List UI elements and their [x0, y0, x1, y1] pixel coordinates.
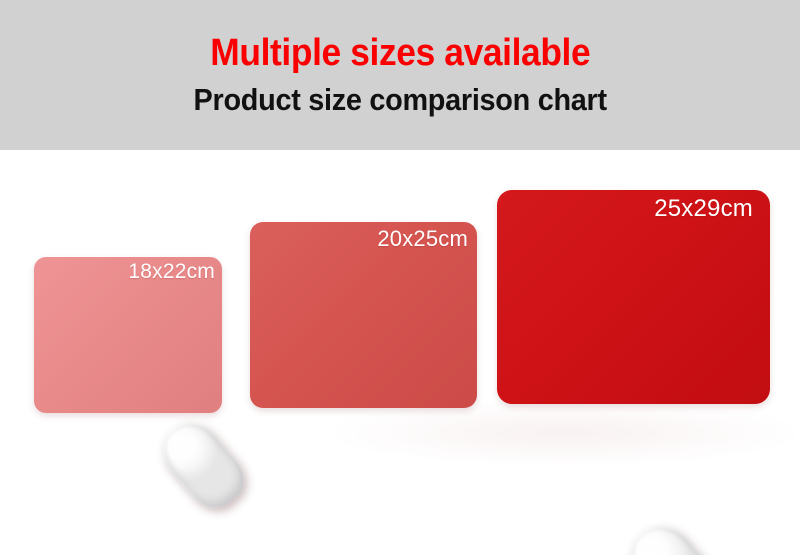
- size-label-large: 25x29cm: [654, 194, 753, 223]
- header-banner: Multiple sizes available Product size co…: [0, 0, 800, 150]
- surface-reflection-right: [330, 400, 800, 466]
- subheadline-comparison-chart: Product size comparison chart: [193, 81, 606, 119]
- headline-multiple-sizes: Multiple sizes available: [210, 31, 590, 75]
- mousepad-medium[interactable]: 20x25cm: [250, 222, 477, 408]
- size-label-small: 18x22cm: [128, 259, 215, 285]
- header-text-group: Multiple sizes available Product size co…: [0, 0, 800, 150]
- mousepad-comparison-stage: 18x22cm 20x25cm 25x29cm: [0, 150, 800, 555]
- size-label-medium: 20x25cm: [377, 225, 468, 252]
- product-size-comparison-page: Multiple sizes available Product size co…: [0, 0, 800, 555]
- mousepad-small[interactable]: 18x22cm: [34, 257, 222, 413]
- mousepad-large[interactable]: 25x29cm: [497, 190, 770, 404]
- mouse-icon-medium: [617, 513, 730, 555]
- mouse-icon-small: [150, 411, 254, 519]
